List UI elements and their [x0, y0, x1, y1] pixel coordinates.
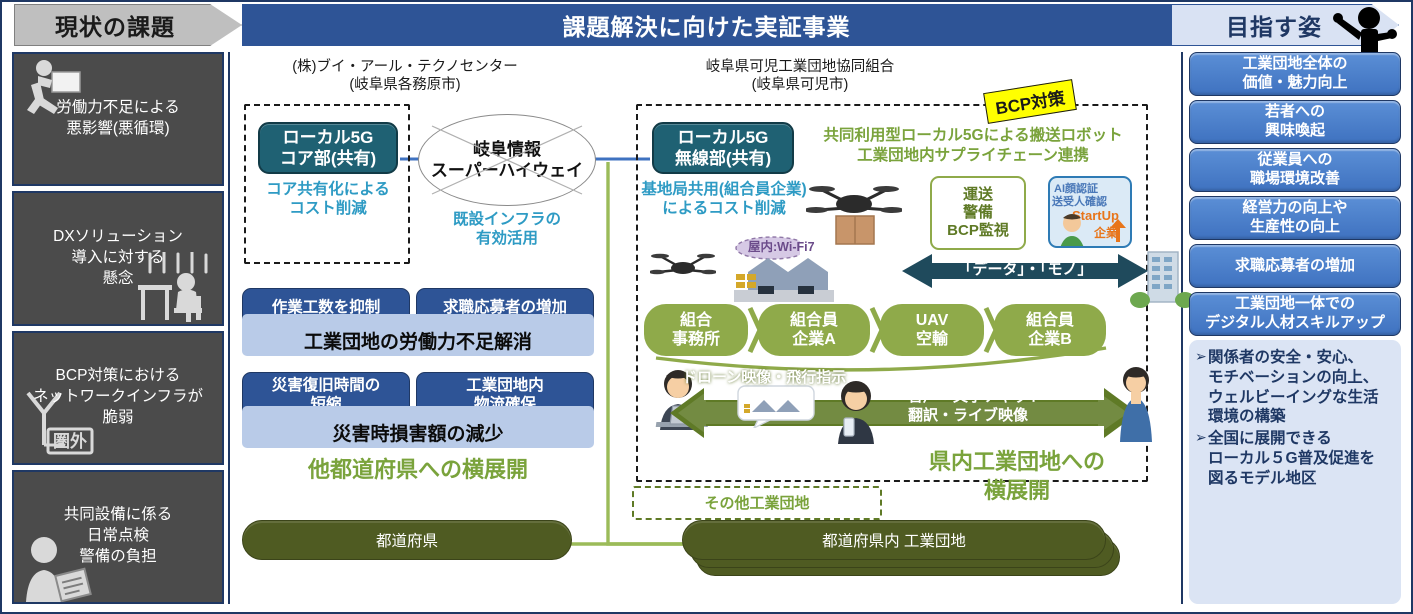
factory-building-icon	[730, 248, 840, 308]
video-bubble-icon	[736, 384, 816, 428]
issue-dx-concern-label: DXソリューション 導入に対する 懸念	[53, 227, 183, 290]
drone-video-label: ドローン映像・飛行指示	[682, 366, 846, 387]
vision-bullet-nationwide-text: 全国に展開できる ローカル５G普及促進を 図るモデル地区	[1208, 429, 1375, 488]
bullet-marker-icon-2: ➢	[1195, 429, 1208, 488]
ellipse-cross-lines	[418, 114, 596, 206]
goal-park-value[interactable]: 工業団地全体の 価値・魅力向上	[1189, 52, 1401, 96]
person-face-icon	[1056, 212, 1088, 248]
in-prefecture-expansion-label: 県内工業団地への 横展開	[876, 448, 1158, 505]
local5g-radio-box[interactable]: ローカル5G 無線部(共有)	[652, 122, 794, 174]
small-drone-icon	[650, 248, 716, 288]
goal-youth-interest[interactable]: 若者への 興味喚起	[1189, 100, 1401, 144]
vision-bullet-nationwide: ➢ 全国に展開できる ローカル５G普及促進を 図るモデル地区	[1195, 429, 1395, 488]
left-site-caption: (株)ブイ・アール・テクノセンター (岐阜県各務原市)	[230, 58, 580, 94]
delivery-drone-icon	[806, 176, 902, 246]
pill-industrial-park[interactable]: 都道府県内 工業団地	[682, 520, 1106, 560]
header-demonstration-project-label: 課題解決に向けた実証事業	[563, 8, 851, 42]
header-demonstration-project: 課題解決に向けた実証事業	[242, 4, 1171, 46]
indoor-wifi-label: 屋内:Wi-Fi7	[748, 236, 815, 255]
issue-network-fragile-label: BCP対策における ネットワークインフラが 脆弱	[33, 366, 203, 429]
goal-job-applicants[interactable]: 求職応募者の増加	[1189, 244, 1401, 288]
other-prefectures-expansion-label: 他都道府県への横展開	[238, 456, 598, 485]
vision-bullet-safety: ➢ 関係者の安全・安心、 モチベーションの向上、 ウェルビーイングな生活 環境の…	[1195, 348, 1395, 427]
goal-management-productivity[interactable]: 経営力の向上や 生産性の向上	[1189, 196, 1401, 240]
issue-labor-shortage-label: 労働力不足による 悪影響(悪循環)	[56, 98, 180, 140]
orange-arrow-icon	[1106, 218, 1128, 244]
header-target-vision-label: 目指す姿	[1226, 8, 1322, 42]
goal-employee-workplace[interactable]: 従業員への 職場環境改善	[1189, 148, 1401, 192]
header-current-issues: 現状の課題	[14, 4, 242, 46]
vision-bullet-safety-text: 関係者の安全・安心、 モチベーションの向上、 ウェルビーイングな生活 環境の構築	[1208, 348, 1379, 427]
local5g-core-box[interactable]: ローカル5G コア部(共有)	[258, 122, 398, 174]
issue-network-fragile[interactable]: 圏外 BCP対策における ネットワークインフラが 脆弱	[12, 331, 224, 465]
other-industrial-parks-label: その他工業団地	[632, 492, 882, 513]
current-issues-list: 労働力不足による 悪影響(悪循環) DXソリューション 導入に対する 懸念	[12, 52, 224, 604]
header-current-issues-label: 現状の課題	[55, 8, 175, 42]
outcome-summary-disaster-loss: 災害時損害額の減少	[242, 406, 594, 448]
vision-bullets: ➢ 関係者の安全・安心、 モチベーションの向上、 ウェルビーイングな生活 環境の…	[1189, 340, 1401, 604]
pill-prefecture[interactable]: 都道府県	[242, 520, 572, 560]
existing-infra-note: 既設インフラの 有効活用	[418, 210, 596, 249]
core-cost-note: コア共有化による コスト削減	[244, 180, 412, 219]
ai-face-recognition-sticker: AI顔認証 送受人確認 StartUp 企業	[1048, 176, 1132, 248]
svg-text:圏外: 圏外	[53, 431, 87, 451]
outcome-summary-labor-shortage: 工業団地の労働力不足解消	[242, 314, 594, 356]
issue-inspection-burden[interactable]: 共同設備に係る 日常点検 警備の負担	[12, 470, 224, 604]
issue-inspection-burden-label: 共同設備に係る 日常点検 警備の負担	[64, 505, 173, 568]
office-building-icon	[1130, 248, 1194, 310]
goal-digital-skillup[interactable]: 工業団地一体での デジタル人材スキルアップ	[1189, 292, 1401, 336]
chat-translation-label: 音声・文字チャット 翻訳・ライブ映像	[908, 388, 1126, 426]
target-vision-list: 工業団地全体の 価値・魅力向上 若者への 興味喚起 従業員への 職場環境改善 経…	[1189, 52, 1401, 604]
supply-chain-note: 共同利用型ローカル5Gによる搬送ロボット 工業団地内サプライチェーン連携	[800, 126, 1146, 166]
issue-dx-concern[interactable]: DXソリューション 導入に対する 懸念	[12, 191, 224, 325]
base-station-cost-note: 基地局共用(組合員企業) によるコスト削減	[634, 180, 814, 219]
slide-root: 現状の課題 課題解決に向けた実証事業 目指す姿 労働力不足による 悪影響(悪循環…	[0, 0, 1413, 614]
data-mono-arrow-label: 「データ」・「モノ」	[914, 261, 1136, 279]
right-site-caption: 岐阜県可児工業団地協同組合 (岐阜県可児市)	[620, 58, 980, 94]
demonstration-project-panel: (株)ブイ・アール・テクノセンター (岐阜県各務原市) ローカル5G コア部(共…	[228, 52, 1183, 604]
bullet-marker-icon: ➢	[1195, 348, 1208, 427]
ai-sticker-line2: 送受人確認	[1052, 193, 1107, 209]
issue-labor-shortage[interactable]: 労働力不足による 悪影響(悪循環)	[12, 52, 224, 186]
transport-security-callout: 運送 警備 BCP監視	[930, 176, 1026, 250]
